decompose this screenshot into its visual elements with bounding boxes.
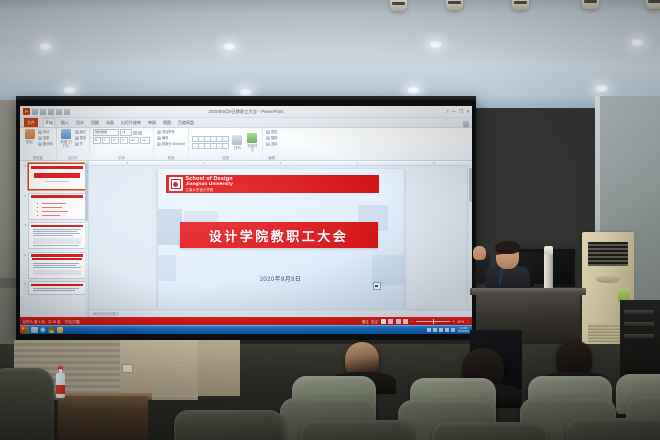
copy-button[interactable]: 复制 bbox=[38, 135, 53, 140]
layout-icon bbox=[75, 130, 79, 134]
thumb-text-line bbox=[42, 207, 62, 208]
bullets-icon bbox=[157, 130, 161, 134]
thumb-text-line bbox=[33, 235, 74, 236]
powerpoint-taskbar-icon[interactable]: P bbox=[20, 326, 27, 333]
notes-toggle[interactable]: 备注 bbox=[362, 319, 369, 324]
zoom-slider-thumb[interactable] bbox=[433, 319, 435, 324]
arrange-button[interactable]: 排列 bbox=[231, 135, 244, 150]
thumb-text-line bbox=[42, 211, 68, 212]
group-label-font: 字体 bbox=[93, 156, 150, 160]
track-light bbox=[646, 0, 660, 9]
thumb-bullet bbox=[37, 211, 39, 213]
language-indicator[interactable]: 中文(中国) bbox=[65, 319, 81, 324]
projected-desktop: P 2020年9月9日教职工大会 - PowerPoint ? — ❐ ✕ 文件 bbox=[20, 106, 472, 334]
strikethrough-button[interactable]: S bbox=[120, 137, 128, 144]
tab-design[interactable]: 设计 bbox=[75, 119, 85, 127]
thumb-bullet bbox=[37, 207, 39, 209]
taskbar-clock[interactable]: 14:05 2020/9/9 bbox=[457, 327, 470, 333]
ceiling-downlight bbox=[222, 42, 237, 51]
thumb-content-block bbox=[33, 270, 82, 275]
numbering-button[interactable]: 编号 bbox=[157, 135, 168, 140]
ribbon-group-paragraph[interactable]: 项目符号 编号 转换为 SmartArt 段落 bbox=[154, 128, 189, 160]
chrome-icon[interactable] bbox=[48, 327, 55, 334]
ribbon-group-editing[interactable]: 查找 替换 选择 编辑 bbox=[263, 128, 280, 160]
ribbon-group-drawing[interactable]: 排列 快速样式 绘图 bbox=[189, 128, 263, 160]
section-button[interactable]: 节 bbox=[75, 141, 86, 146]
thumb-title-band bbox=[34, 173, 81, 178]
show-hidden-icons-icon[interactable] bbox=[427, 328, 431, 332]
horizontal-ruler: 8 4 0 4 8 bbox=[89, 161, 472, 166]
ceiling-downlight bbox=[62, 86, 77, 95]
scrollbar-thumb[interactable] bbox=[469, 168, 472, 202]
paste-icon bbox=[25, 129, 35, 139]
thumb-text-line bbox=[42, 215, 60, 216]
ribbon-collapse-controls[interactable] bbox=[463, 121, 472, 127]
ribbon-display-options-icon[interactable] bbox=[463, 121, 469, 127]
character-spacing-button[interactable]: AV bbox=[129, 137, 139, 144]
foreground-chair bbox=[0, 368, 54, 440]
slide-thumbnail-5[interactable]: 5 bbox=[22, 281, 86, 295]
ruler-mark: 4 bbox=[203, 162, 204, 165]
track-light bbox=[512, 0, 529, 10]
thumb-text-line bbox=[33, 263, 80, 264]
windows-explorer-icon[interactable] bbox=[31, 327, 38, 334]
scissors-icon bbox=[38, 130, 42, 134]
water-bottle bbox=[56, 366, 65, 398]
thumb-title-band bbox=[32, 258, 83, 261]
status-right-cluster[interactable]: 备注 批注 − + 69% ⛶ bbox=[362, 319, 469, 324]
shape-icon[interactable] bbox=[222, 143, 229, 149]
wall-socket bbox=[122, 364, 133, 373]
ruler-mark: 8 bbox=[127, 162, 128, 165]
rack-shelf bbox=[624, 322, 654, 326]
slide-date-text: 2020年9月9日 bbox=[158, 274, 404, 283]
quick-styles-icon bbox=[247, 133, 257, 143]
restore-button[interactable]: ❐ bbox=[459, 109, 463, 115]
minimize-button[interactable]: — bbox=[452, 109, 457, 114]
change-case-button[interactable]: Aa bbox=[140, 137, 150, 144]
thumb-header-band bbox=[31, 166, 84, 169]
slide-title-placeholder[interactable]: 设计学院教职工大会 bbox=[180, 222, 378, 248]
input-method-icon[interactable] bbox=[445, 328, 449, 332]
thumb-text-line bbox=[33, 267, 82, 268]
smartart-icon bbox=[157, 142, 161, 146]
thumb-header-band bbox=[31, 254, 84, 257]
new-slide-icon bbox=[61, 129, 71, 139]
thumbnail-preview bbox=[28, 222, 87, 249]
side-table bbox=[58, 396, 148, 440]
normal-view-button[interactable] bbox=[381, 319, 386, 324]
zoom-out-button[interactable]: − bbox=[411, 320, 414, 324]
group-label-slides: 幻灯片 bbox=[60, 156, 86, 160]
group-label-paragraph: 段落 bbox=[157, 156, 185, 160]
slide-thumbnail-4[interactable]: 4 bbox=[22, 252, 86, 279]
tab-slideshow[interactable]: 幻灯片放映 bbox=[120, 119, 142, 127]
ruler-mark: 0 bbox=[280, 162, 281, 165]
thumb-date-line bbox=[45, 181, 70, 182]
search-icon bbox=[266, 130, 270, 134]
auditorium-seat bbox=[566, 418, 660, 440]
layout-button[interactable]: 版式 bbox=[75, 129, 86, 134]
convert-smartart-button[interactable]: 转换为 SmartArt bbox=[157, 141, 185, 146]
thumbnail-preview bbox=[28, 252, 87, 279]
comments-toggle[interactable]: 批注 bbox=[371, 319, 378, 324]
slide-header-text: School of Design Jiangnan University 江南大… bbox=[186, 176, 233, 191]
reset-icon bbox=[75, 136, 79, 140]
powerpoint-titlebar: P 2020年9月9日教职工大会 - PowerPoint ? — ❐ ✕ bbox=[20, 106, 472, 118]
ceiling-downlight bbox=[38, 42, 53, 51]
slide-canvas[interactable]: School of Design Jiangnan University 江南大… bbox=[158, 169, 404, 319]
slide-decor-block bbox=[158, 209, 182, 245]
ceiling-downlight bbox=[594, 84, 609, 93]
ribbon-tabs[interactable]: 文件 开始 插入 设计 切换 动画 幻灯片放映 审阅 视图 百度网盘 bbox=[20, 118, 472, 128]
thumb-text-line bbox=[42, 203, 66, 204]
shape-icon[interactable] bbox=[222, 136, 229, 142]
ceiling-soffit bbox=[0, 0, 660, 14]
lecture-hall-scene: P 2020年9月9日教职工大会 - PowerPoint ? — ❐ ✕ 文件 bbox=[0, 0, 660, 440]
slide-thumbnail-1[interactable]: 1 bbox=[22, 163, 86, 190]
tab-view[interactable]: 视图 bbox=[162, 119, 172, 127]
zoom-percent[interactable]: 69% bbox=[457, 320, 464, 324]
podium-microphone-head bbox=[544, 246, 553, 255]
slide-editing-pane[interactable]: 8 4 0 4 8 bbox=[89, 161, 472, 320]
clock-date: 2020/9/9 bbox=[458, 330, 469, 333]
auditorium-seat bbox=[432, 422, 548, 440]
thumb-text-line bbox=[33, 245, 80, 246]
thumb-text-line bbox=[33, 233, 81, 234]
zoom-in-button[interactable]: + bbox=[452, 320, 455, 324]
format-painter-button[interactable]: 格式刷 bbox=[38, 141, 53, 146]
tab-baidu-netdisk[interactable]: 百度网盘 bbox=[177, 119, 195, 127]
slide-sorter-button[interactable] bbox=[388, 319, 393, 324]
ac-vent-grille bbox=[588, 242, 628, 266]
group-label-editing: 编辑 bbox=[266, 156, 277, 160]
document-title: 2020年9月9日教职工大会 - PowerPoint bbox=[20, 109, 472, 115]
thumbnail-preview bbox=[28, 281, 87, 295]
thumbnail-preview bbox=[28, 163, 87, 190]
track-light bbox=[582, 0, 599, 9]
quick-styles-button[interactable]: 快速样式 bbox=[246, 133, 259, 152]
thumb-text-line bbox=[33, 265, 77, 266]
slide-header-banner[interactable]: School of Design Jiangnan University 江南大… bbox=[166, 175, 379, 193]
presenter-hair bbox=[495, 241, 520, 254]
thumb-header-band bbox=[31, 284, 84, 287]
close-button[interactable]: ✕ bbox=[466, 109, 470, 115]
reset-button[interactable]: 重设 bbox=[75, 135, 86, 140]
paste-button[interactable]: 粘贴 bbox=[23, 129, 36, 144]
thumb-text-line bbox=[33, 290, 76, 291]
presenter-raised-hand bbox=[473, 246, 486, 260]
university-crest-icon bbox=[169, 177, 183, 191]
select-icon bbox=[266, 142, 270, 146]
track-light bbox=[446, 0, 463, 10]
tab-file[interactable]: 文件 bbox=[24, 118, 38, 127]
copy-icon bbox=[38, 136, 42, 140]
ceiling bbox=[0, 0, 660, 108]
slide-indicator: 幻灯片 第 1 张，共 28 张 bbox=[23, 319, 61, 324]
thumb-text-line bbox=[33, 288, 80, 289]
tab-review[interactable]: 审阅 bbox=[147, 119, 157, 127]
system-tray[interactable]: 14:05 2020/9/9 bbox=[427, 327, 472, 333]
increase-font-icon[interactable] bbox=[133, 131, 137, 135]
thumb-text-line bbox=[33, 229, 82, 230]
ribbon[interactable]: 粘贴 剪切 复制 格式刷 剪贴板 新建 幻灯片 bbox=[20, 128, 472, 161]
slide-thumbnail-pane[interactable]: 1 2 bbox=[20, 161, 89, 320]
back-wall-surface bbox=[120, 340, 240, 396]
new-slide-button[interactable]: 新建 幻灯片 bbox=[60, 129, 73, 148]
paintbrush-icon bbox=[38, 142, 42, 146]
ribbon-group-slides[interactable]: 新建 幻灯片 版式 重设 节 幻灯片 bbox=[57, 128, 90, 160]
section-icon bbox=[75, 142, 79, 146]
bold-button[interactable]: B bbox=[93, 137, 101, 144]
select-button[interactable]: 选择 bbox=[266, 141, 277, 146]
slide-thumbnail-2[interactable]: 2 bbox=[22, 193, 86, 220]
window-controls[interactable]: ? — ❐ ✕ bbox=[446, 109, 470, 115]
scrollbar-thumb[interactable] bbox=[85, 163, 87, 221]
bullets-button[interactable]: 项目符号 bbox=[157, 129, 175, 134]
handle-dot bbox=[375, 285, 378, 288]
find-button[interactable]: 查找 bbox=[266, 129, 277, 134]
thumb-header-band bbox=[31, 195, 84, 198]
replace-icon bbox=[266, 136, 270, 140]
rack-shelf bbox=[624, 334, 654, 338]
ruler-mark: 8 bbox=[433, 162, 434, 165]
tab-transitions[interactable]: 切换 bbox=[90, 119, 100, 127]
numbering-icon bbox=[157, 136, 161, 140]
podium-microphone-stand bbox=[544, 252, 553, 292]
group-label-clipboard: 剪贴板 bbox=[23, 156, 53, 160]
decrease-font-icon[interactable] bbox=[138, 131, 142, 135]
selection-handle[interactable] bbox=[373, 282, 381, 290]
internet-explorer-icon[interactable] bbox=[40, 327, 47, 334]
ruler-mark: 4 bbox=[356, 162, 357, 165]
thumb-text-line bbox=[33, 231, 78, 232]
thumb-bullet bbox=[37, 203, 39, 205]
bottle-label bbox=[56, 385, 65, 394]
ribbon-group-clipboard[interactable]: 粘贴 剪切 复制 格式刷 剪贴板 bbox=[20, 128, 57, 160]
slideshow-button[interactable] bbox=[403, 319, 408, 324]
thumb-bullet bbox=[37, 215, 39, 217]
volume-icon[interactable] bbox=[439, 328, 443, 332]
replace-button[interactable]: 替换 bbox=[266, 135, 277, 140]
auditorium-seat bbox=[174, 410, 284, 440]
underline-button[interactable]: U bbox=[111, 137, 119, 144]
network-icon[interactable] bbox=[433, 328, 437, 332]
slide-thumbnail-3[interactable]: 3 bbox=[22, 222, 86, 249]
ceiling-downlight bbox=[428, 40, 443, 49]
thumb-content-block bbox=[33, 238, 82, 244]
school-name-cn: 江南大学设计学院 bbox=[186, 188, 233, 192]
track-light bbox=[390, 0, 407, 11]
fit-slide-button[interactable]: ⛶ bbox=[467, 320, 469, 324]
equipment-rack bbox=[620, 300, 660, 380]
group-label-drawing: 绘图 bbox=[192, 156, 259, 160]
ceiling-downlight bbox=[406, 86, 421, 95]
italic-button[interactable]: I bbox=[102, 137, 110, 144]
reading-view-button[interactable] bbox=[396, 319, 401, 324]
font-name-input[interactable]: 微软雅黑 bbox=[93, 129, 119, 136]
thumbnail-scrollbar[interactable] bbox=[85, 161, 88, 320]
help-icon[interactable]: ? bbox=[446, 109, 449, 114]
powerpoint-window: P 2020年9月9日教职工大会 - PowerPoint ? — ❐ ✕ 文件 bbox=[20, 106, 472, 334]
ribbon-group-font[interactable]: 微软雅黑 18 B I U S AV Aa bbox=[90, 128, 154, 160]
rack-shelf bbox=[624, 310, 654, 314]
security-icon[interactable] bbox=[451, 328, 455, 332]
tab-insert[interactable]: 插入 bbox=[60, 119, 70, 127]
zoom-slider[interactable] bbox=[416, 321, 450, 322]
powerpoint-workspace: 1 2 bbox=[20, 161, 472, 320]
thumbnail-preview bbox=[28, 193, 87, 220]
tab-home[interactable]: 开始 bbox=[43, 118, 55, 127]
font-size-input[interactable]: 18 bbox=[120, 129, 132, 136]
shapes-gallery[interactable] bbox=[192, 136, 227, 149]
slide-title-text: 设计学院教职工大会 bbox=[209, 226, 349, 245]
ac-brand-panel bbox=[596, 276, 620, 283]
ceiling-downlight bbox=[630, 38, 645, 47]
thumb-header-band bbox=[31, 225, 84, 228]
auditorium-seat bbox=[300, 420, 414, 440]
tab-animations[interactable]: 动画 bbox=[105, 119, 115, 127]
folder-icon[interactable] bbox=[57, 327, 64, 334]
cut-button[interactable]: 剪切 bbox=[38, 129, 53, 134]
windows-taskbar[interactable]: P 14:05 2020/9/9 bbox=[20, 325, 472, 334]
arrange-icon bbox=[232, 135, 242, 145]
